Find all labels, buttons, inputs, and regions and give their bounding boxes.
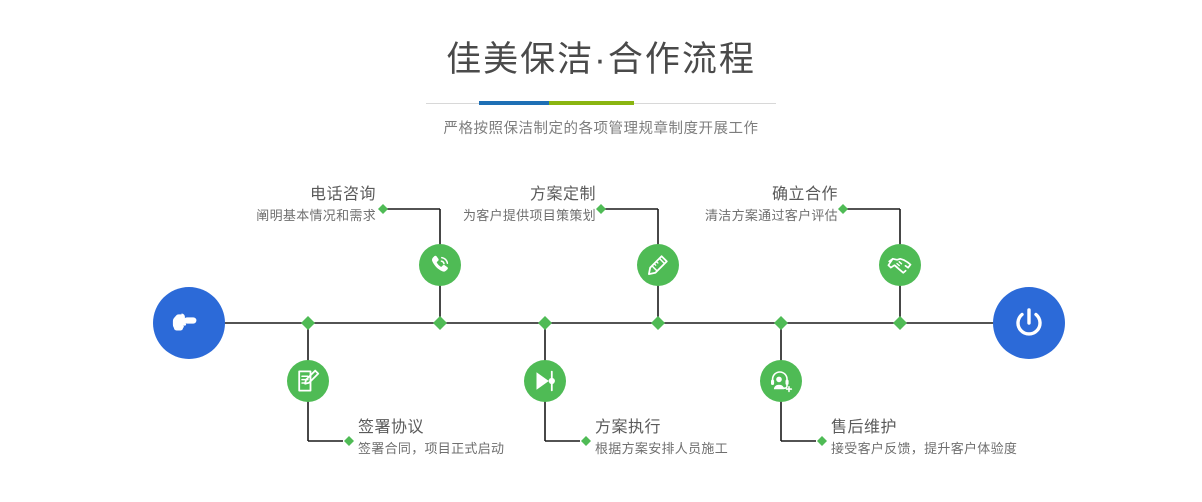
divider-segment-green <box>549 101 634 105</box>
phone-call-icon <box>427 252 453 278</box>
page-header: 佳美保洁·合作流程 严格按照保洁制定的各项管理规章制度开展工作 <box>0 0 1202 138</box>
step-5-icon-circle[interactable] <box>879 244 921 286</box>
diamond-marker-step-6-axis <box>774 316 788 330</box>
step-2-icon-circle[interactable] <box>287 360 329 402</box>
step-6-title: 售后维护 <box>831 418 1151 438</box>
step-6-label: 售后维护 接受客户反馈，提升客户体验度 <box>831 418 1151 458</box>
step-3-icon-circle[interactable] <box>637 244 679 286</box>
diamond-marker-step-4-axis <box>538 316 552 330</box>
power-icon <box>1009 303 1049 343</box>
diamond-marker-step-3-axis <box>651 316 665 330</box>
step-6-desc: 接受客户反馈，提升客户体验度 <box>831 440 1151 458</box>
flow-end-node[interactable] <box>993 287 1065 359</box>
handshake-icon <box>886 251 914 279</box>
infographic-root: 佳美保洁·合作流程 严格按照保洁制定的各项管理规章制度开展工作 <box>0 0 1202 502</box>
diamond-marker-step-2-label <box>344 436 354 446</box>
page-title: 佳美保洁·合作流程 <box>0 42 1202 77</box>
step-5-desc: 清洁方案通过客户评估 <box>543 207 838 225</box>
diamond-marker-step-1-axis <box>433 316 447 330</box>
process-flow-diagram: 电话咨询 阐明基本情况和需求 方案定制 为客户提供项目策策划 确立合作 清洁方案… <box>0 150 1202 502</box>
page-subtitle: 严格按照保洁制定的各项管理规章制度开展工作 <box>0 117 1202 138</box>
step-5-title: 确立合作 <box>543 185 838 205</box>
flow-start-node[interactable] <box>153 287 225 359</box>
step-5-label: 确立合作 清洁方案通过客户评估 <box>543 185 838 225</box>
customer-service-icon <box>768 368 794 394</box>
step-1-icon-circle[interactable] <box>419 244 461 286</box>
step-6-icon-circle[interactable] <box>760 360 802 402</box>
pointing-hand-icon <box>169 303 209 343</box>
title-divider <box>426 101 776 105</box>
diamond-marker-step-5-axis <box>893 316 907 330</box>
divider-segment-blue <box>479 101 549 105</box>
pencil-ruler-icon <box>645 252 671 278</box>
diamond-marker-step-5-label <box>838 204 848 214</box>
step-4-icon-circle[interactable] <box>524 360 566 402</box>
play-execute-icon <box>532 368 558 394</box>
document-edit-icon <box>295 368 321 394</box>
diamond-marker-step-2-axis <box>301 316 315 330</box>
